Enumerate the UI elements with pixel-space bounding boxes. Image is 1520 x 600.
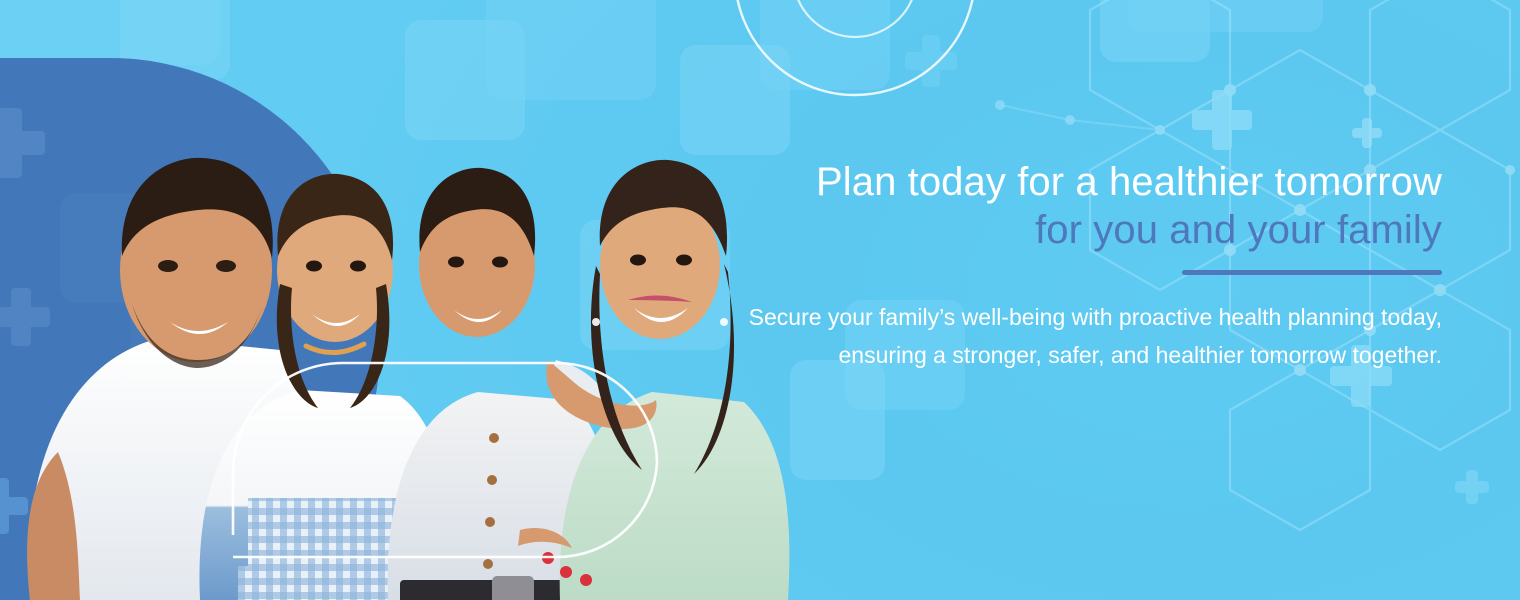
- hero-banner: Plan today for a healthier tomorrow for …: [0, 0, 1520, 600]
- banner-content: Plan today for a healthier tomorrow for …: [742, 160, 1442, 374]
- banner-subcopy: Secure your family’s well-being with pro…: [742, 299, 1442, 374]
- medical-cross-icon: [1455, 470, 1489, 504]
- headline-accent: for you and your family: [742, 206, 1442, 255]
- headline-primary: Plan today for a healthier tomorrow: [742, 160, 1442, 206]
- pixel-block: [1100, 0, 1210, 62]
- medical-cross-icon: [905, 35, 957, 87]
- pixel-block: [0, 0, 220, 65]
- medical-cross-icon: [1192, 90, 1252, 150]
- pixel-block: [1128, 0, 1323, 32]
- medical-cross-icon: [1352, 118, 1382, 148]
- headline-divider: [1182, 270, 1442, 275]
- rounded-pill-outline-icon: [225, 355, 665, 565]
